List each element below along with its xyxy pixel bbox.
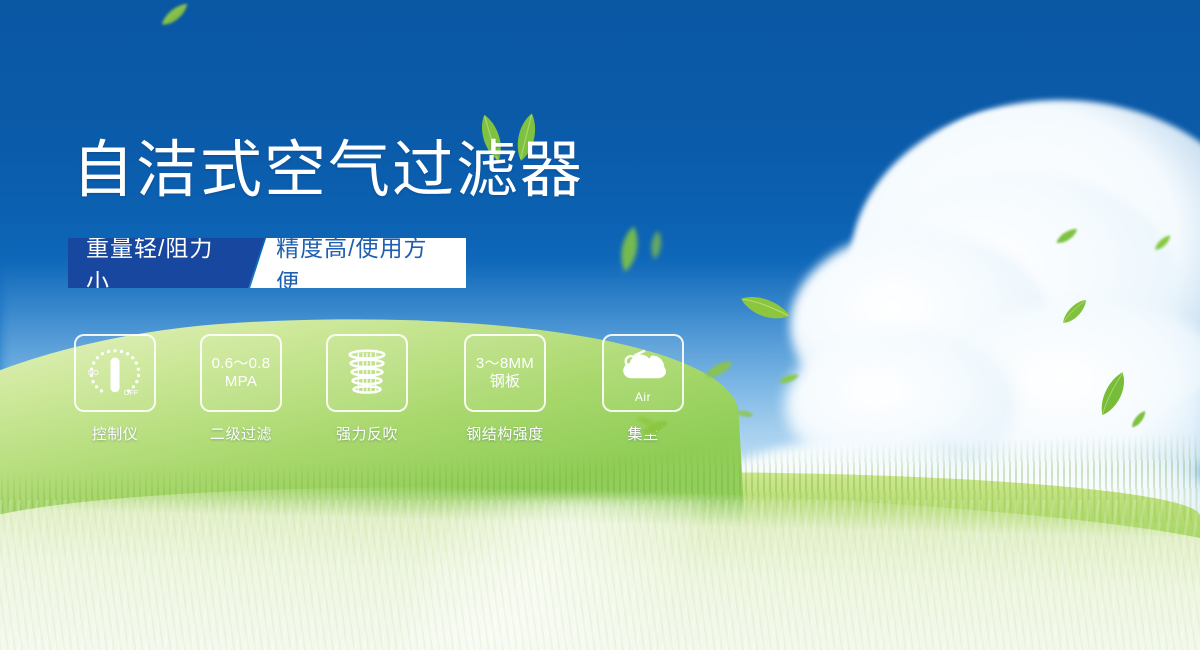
feature-label: 钢结构强度 <box>466 423 544 444</box>
air-caption: Air <box>635 390 651 404</box>
pressure-value-line2: MPA <box>225 373 257 391</box>
hero-banner: 自洁式空气过滤器 重量轻/阻力小 精度高/使用方便 <box>0 0 1200 650</box>
feature-icon-box: 3～8MM 钢板 <box>464 334 546 412</box>
feature-item-pressure[interactable]: 0.6～0.8 MPA 二级过滤 <box>198 334 284 444</box>
steel-value-line2: 钢板 <box>490 373 521 391</box>
feature-icon-box: Air <box>602 334 684 412</box>
feature-item-steel[interactable]: 3～8MM 钢板 钢结构强度 <box>450 334 560 444</box>
filter-cartridge-icon <box>337 345 397 401</box>
feature-item-dust[interactable]: Air 集尘 <box>600 334 686 444</box>
feature-item-backflush[interactable]: 强力反吹 <box>324 334 410 444</box>
feature-label: 集尘 <box>627 423 658 444</box>
feature-item-controller[interactable]: NO OFF 控制仪 <box>72 334 158 444</box>
svg-text:OFF: OFF <box>124 388 139 397</box>
steel-value-line1: 3～8MM <box>476 355 534 373</box>
tagline-bar: 重量轻/阻力小 精度高/使用方便 <box>68 238 466 288</box>
tagline-left: 重量轻/阻力小 <box>68 238 264 288</box>
feature-label: 二级过滤 <box>210 423 272 444</box>
feature-list: NO OFF 控制仪 0.6～0.8 MPA 二级过滤 <box>72 334 686 444</box>
banner-content: 自洁式空气过滤器 重量轻/阻力小 精度高/使用方便 <box>0 0 1200 650</box>
dial-gauge-icon: NO OFF <box>85 345 145 401</box>
feature-icon-box: NO OFF <box>74 334 156 412</box>
svg-text:NO: NO <box>88 368 99 377</box>
feature-icon-box <box>326 334 408 412</box>
pressure-value-line1: 0.6～0.8 <box>212 355 271 373</box>
tagline-right: 精度高/使用方便 <box>250 238 466 288</box>
feature-label: 控制仪 <box>92 423 139 444</box>
page-title: 自洁式空气过滤器 <box>72 140 584 202</box>
feature-icon-box: 0.6～0.8 MPA <box>200 334 282 412</box>
feature-label: 强力反吹 <box>336 423 398 444</box>
